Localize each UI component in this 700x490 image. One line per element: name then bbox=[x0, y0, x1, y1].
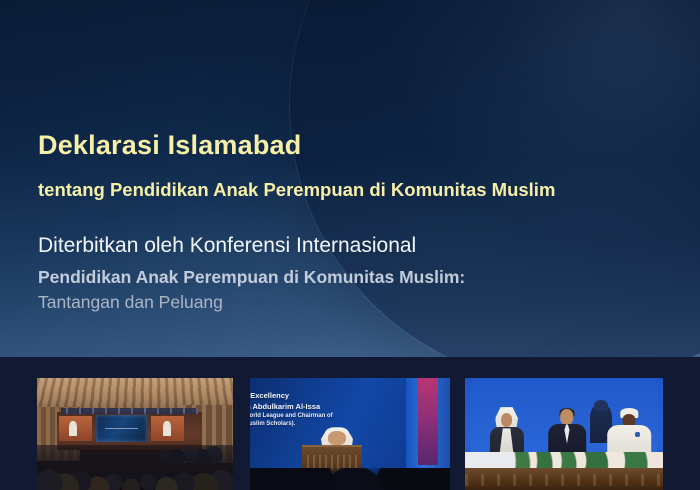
hall-light-truss bbox=[61, 408, 198, 414]
dignitaries-desk bbox=[465, 468, 663, 490]
speaker-face bbox=[328, 431, 346, 446]
declaration-slide: Deklarasi Islamabad tentang Pendidikan A… bbox=[0, 0, 700, 490]
dignitaries-photo bbox=[465, 378, 663, 490]
screen-text-line-3: World League and Chairman of bbox=[250, 412, 388, 420]
page-subtitle: tentang Pendidikan Anak Perempuan di Kom… bbox=[38, 179, 658, 200]
screen-text-line-1: s Excellency bbox=[250, 391, 388, 401]
screen-text-line-4: Muslim Scholars). bbox=[250, 420, 388, 428]
dignitary-left-face bbox=[501, 413, 513, 428]
hall-screen-right bbox=[151, 416, 184, 441]
podium-foreground-heads bbox=[250, 468, 450, 490]
conference-name-line-2: Tantangan dan Peluang bbox=[38, 292, 658, 314]
title-block: Deklarasi Islamabad tentang Pendidikan A… bbox=[38, 131, 658, 200]
speaker-podium-photo: s Excellency in Abdulkarim Al-Issa World… bbox=[250, 378, 450, 490]
podium-screen-text: s Excellency in Abdulkarim Al-Issa World… bbox=[250, 391, 388, 428]
page-title: Deklarasi Islamabad bbox=[38, 131, 658, 161]
podium-color-stripe bbox=[418, 378, 438, 465]
conference-hall-photo bbox=[37, 378, 233, 490]
conference-name-line-1: Pendidikan Anak Perempuan di Komunitas M… bbox=[38, 267, 658, 289]
publisher-block: Diterbitkan oleh Konferensi Internasiona… bbox=[38, 233, 658, 314]
hall-screen-center bbox=[96, 415, 147, 442]
hall-audience bbox=[37, 445, 233, 490]
screen-text-line-2: in Abdulkarim Al-Issa bbox=[250, 402, 388, 412]
published-by-label: Diterbitkan oleh Konferensi Internasiona… bbox=[38, 233, 658, 258]
hall-screen-left bbox=[59, 416, 92, 441]
